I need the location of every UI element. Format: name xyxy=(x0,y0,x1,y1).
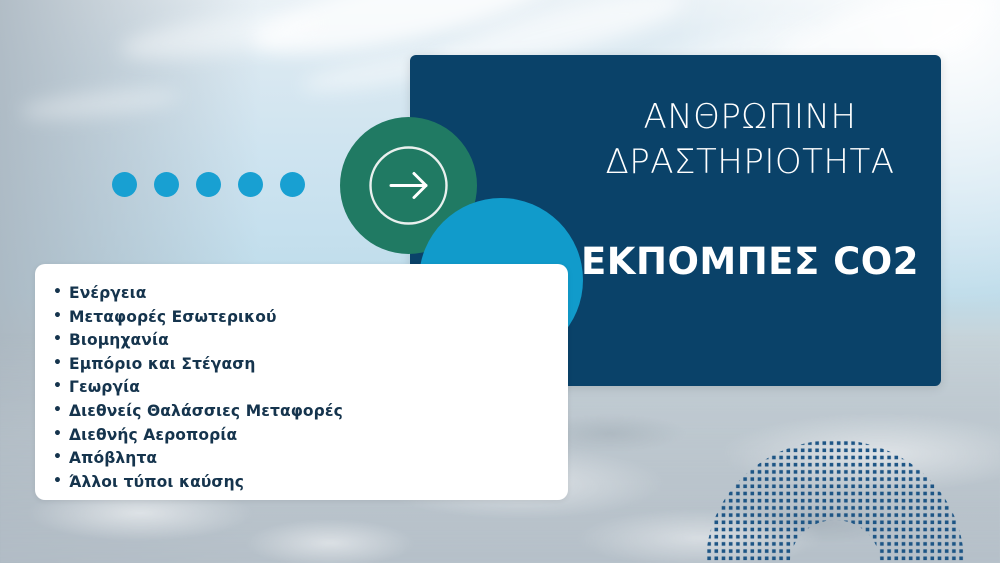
sector-list-card: Ενέργεια Μεταφορές Εσωτερικού Βιομηχανία… xyxy=(35,264,568,500)
list-item: Απόβλητα xyxy=(51,447,568,471)
list-item: Ενέργεια xyxy=(51,282,568,306)
list-item: Μεταφορές Εσωτερικού xyxy=(51,306,568,330)
panel-subtitle: ΕΚΠΟΜΠΕΣ CO2 xyxy=(560,240,940,283)
dot-indicator xyxy=(238,172,263,197)
list-item: Βιομηχανία xyxy=(51,329,568,353)
decorative-dots-row xyxy=(112,172,305,197)
list-item: Γεωργία xyxy=(51,376,568,400)
list-item: Διεθνείς Θαλάσσιες Μεταφορές xyxy=(51,400,568,424)
dot-indicator xyxy=(196,172,221,197)
dot-indicator xyxy=(112,172,137,197)
list-item: Διεθνής Αεροπορία xyxy=(51,424,568,448)
list-item: Άλλοι τύποι καύσης xyxy=(51,471,568,495)
panel-title: ΑΝΘΡΩΠΙΝΗ ΔΡΑΣΤΗΡΙΟΤΗΤΑ xyxy=(560,95,940,185)
dotted-arch-decoration xyxy=(706,440,964,563)
dot-indicator xyxy=(154,172,179,197)
sector-list: Ενέργεια Μεταφορές Εσωτερικού Βιομηχανία… xyxy=(35,264,568,494)
dot-indicator xyxy=(280,172,305,197)
list-item: Εμπόριο και Στέγαση xyxy=(51,353,568,377)
slide-canvas: ΑΝΘΡΩΠΙΝΗ ΔΡΑΣΤΗΡΙΟΤΗΤΑ ΕΚΠΟΜΠΕΣ CO2 er … xyxy=(0,0,1000,563)
